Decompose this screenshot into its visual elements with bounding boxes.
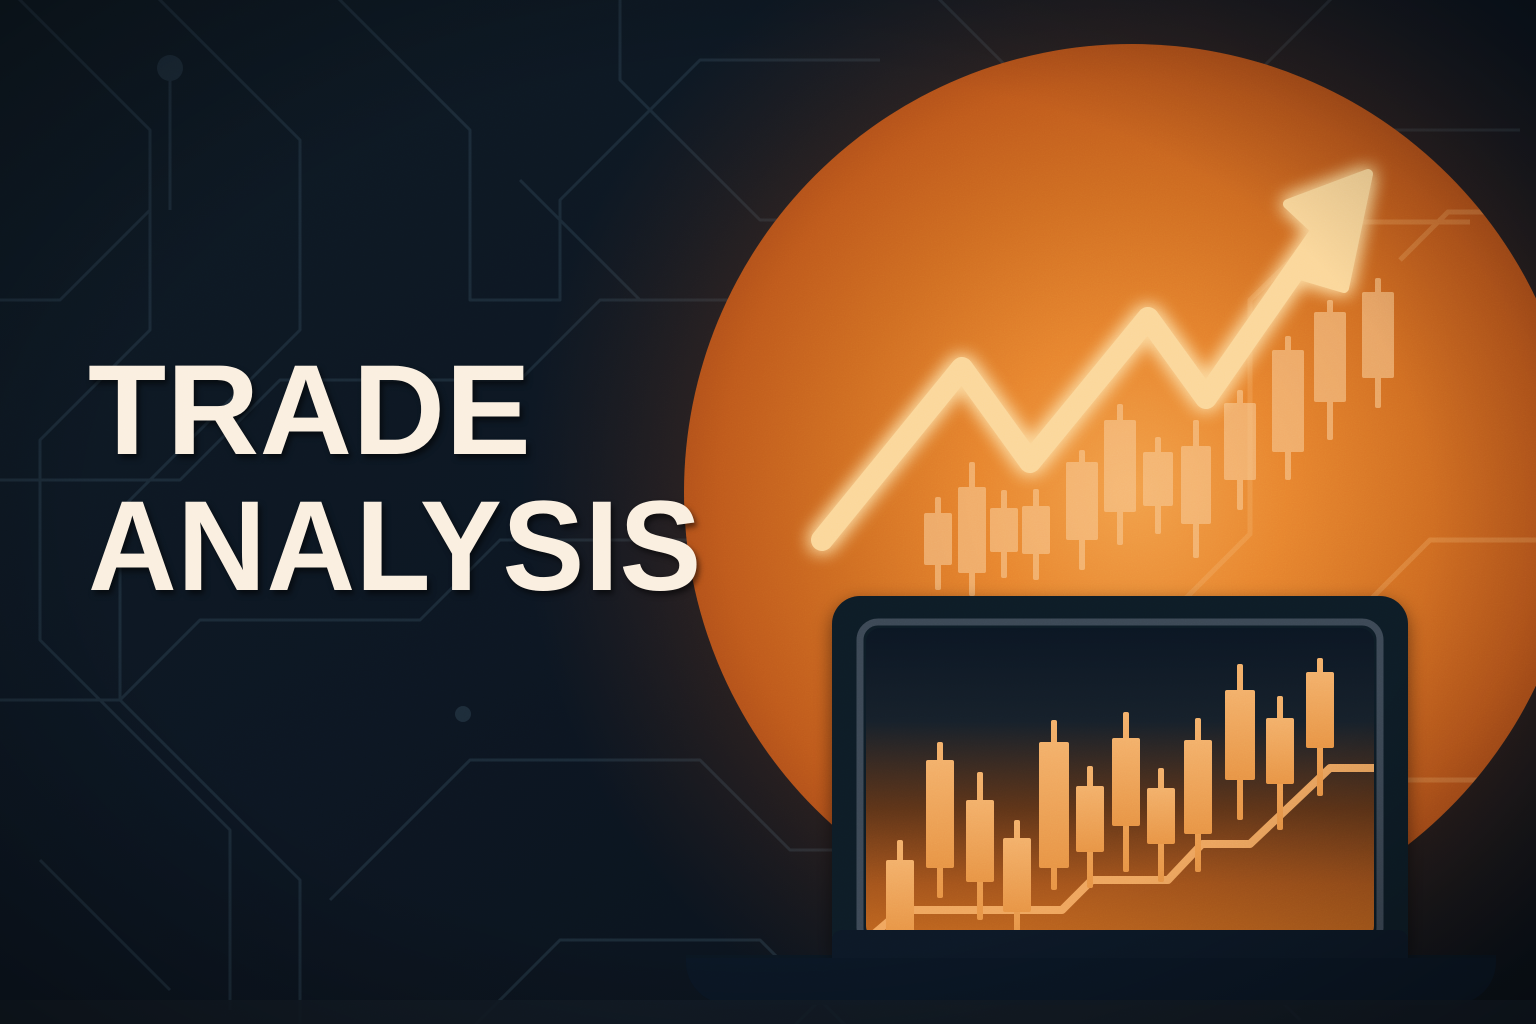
background-layer (0, 0, 1536, 1024)
poster-canvas: TRADE ANALYSIS (0, 0, 1536, 1024)
